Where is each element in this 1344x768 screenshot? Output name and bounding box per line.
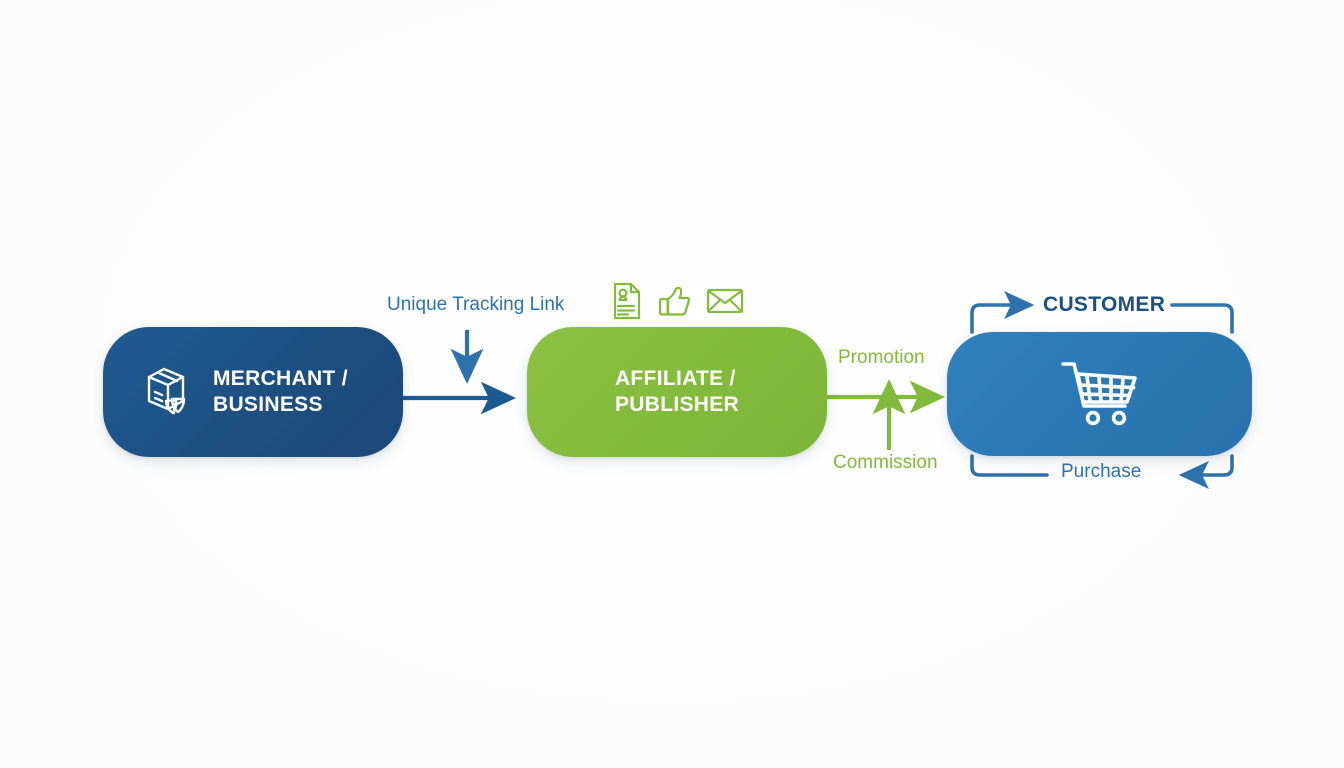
promo-icon-row xyxy=(612,282,744,325)
label-unique-tracking-link: Unique Tracking Link xyxy=(387,294,564,316)
node-merchant[interactable]: MERCHANT / BUSINESS xyxy=(103,327,403,457)
document-icon xyxy=(612,282,642,325)
label-commission: Commission xyxy=(833,452,938,474)
diagram-canvas: MERCHANT / BUSINESS AFFILIATE / PUBLISHE… xyxy=(0,0,1344,768)
label-purchase: Purchase xyxy=(1061,461,1141,483)
package-leaf-icon xyxy=(133,359,195,426)
node-affiliate[interactable]: AFFILIATE / PUBLISHER xyxy=(527,327,827,457)
node-affiliate-label: AFFILIATE / PUBLISHER xyxy=(615,366,739,417)
label-promotion: Promotion xyxy=(838,347,925,369)
node-merchant-label: MERCHANT / BUSINESS xyxy=(213,366,348,417)
shopping-cart-icon xyxy=(1057,356,1143,433)
node-customer[interactable] xyxy=(947,332,1252,456)
envelope-icon xyxy=(706,287,744,320)
thumbs-up-icon xyxy=(658,284,690,323)
label-customer-title: CUSTOMER xyxy=(1043,293,1165,317)
